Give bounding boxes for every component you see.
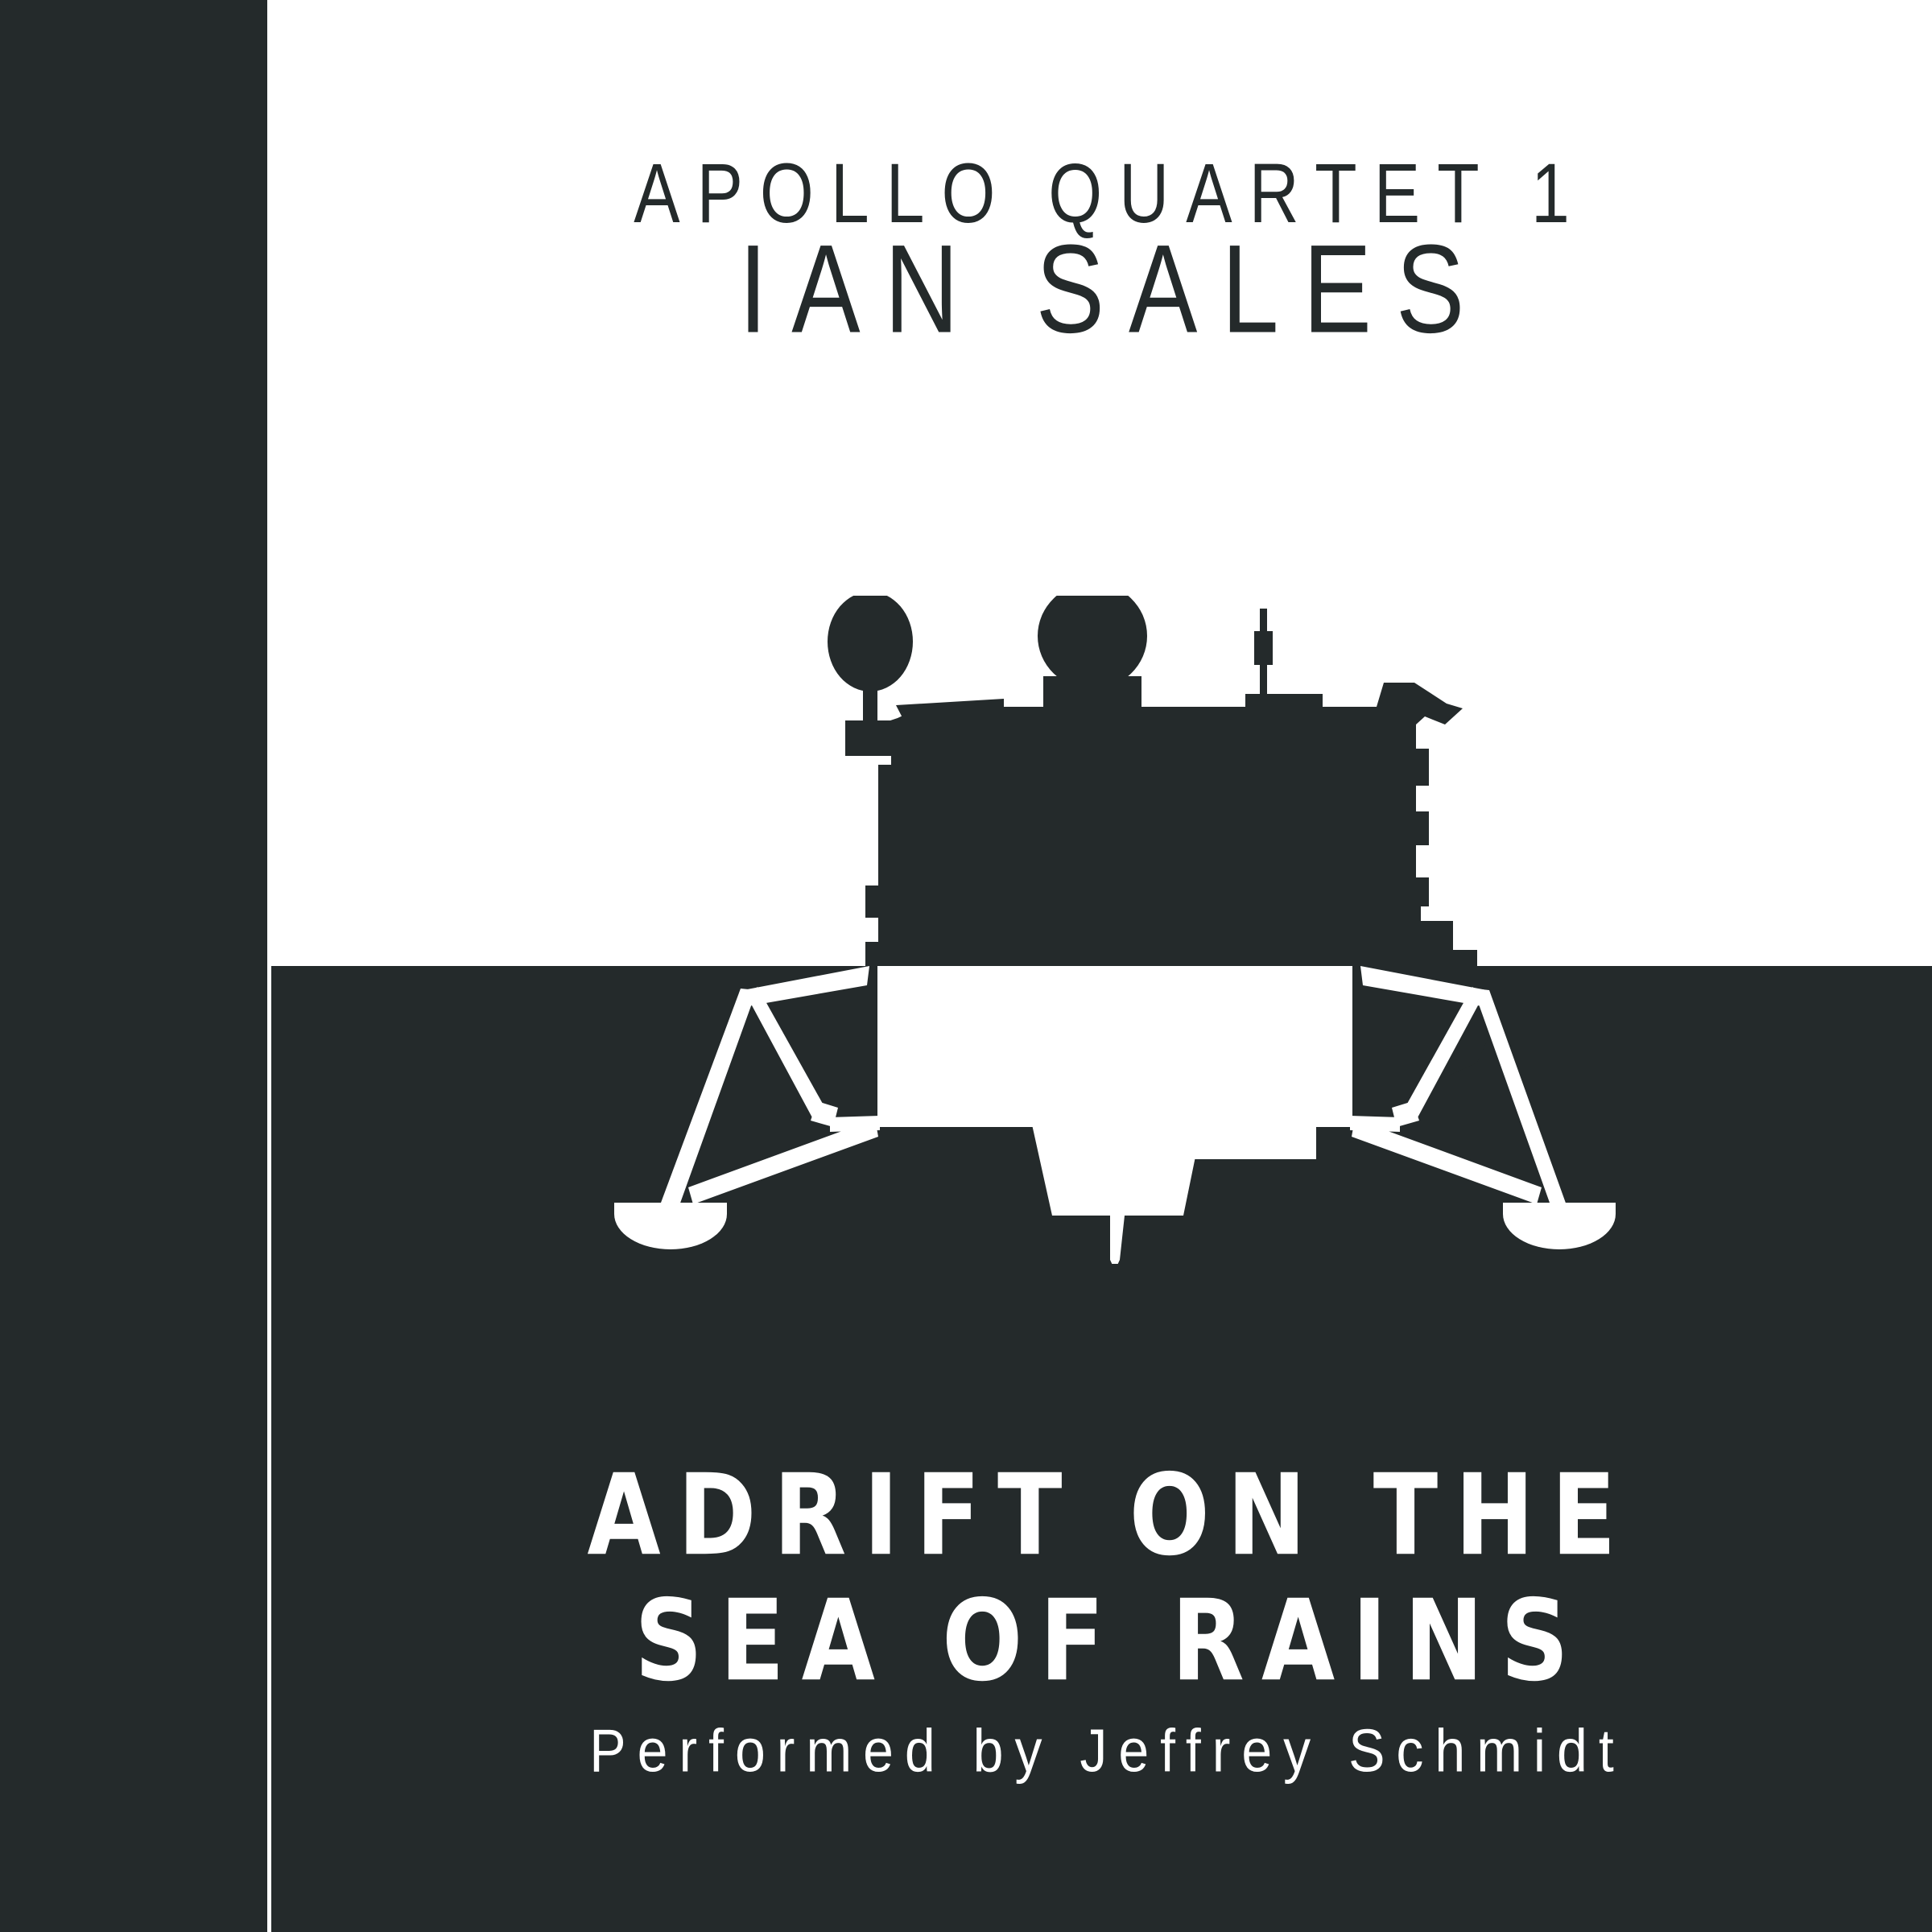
author-name: IAN SALES [271,227,1932,353]
landing-leg-left [614,966,880,1249]
book-title-block: ADRIFT ON THE SEA OF RAINS [271,1453,1932,1704]
rendezvous-radar-antenna [1038,596,1147,689]
lunar-module-illustration [592,596,1638,1264]
performer-credit: Performed by Jeffrey Schmidt [271,1721,1932,1781]
rail-divider [267,0,271,1932]
descent-stage-group [614,966,1616,1264]
cover-artwork-area: APOLLO QUARTET 1 IAN SALES ADRIFT ON THE… [271,0,1932,1932]
audiobook-cover: APOLLO QUARTET 1 IAN SALES ADRIFT ON THE… [0,0,1932,1932]
book-title-line-2: SEA OF RAINS [271,1567,1932,1715]
contact-probe [1110,1216,1125,1264]
footpad-left [614,1203,727,1249]
steerable-s-band-antenna [828,596,913,691]
booktrack-branding-rail [0,0,267,1932]
footpad-right [1503,1203,1616,1249]
descent-engine-bell [1030,1117,1203,1216]
